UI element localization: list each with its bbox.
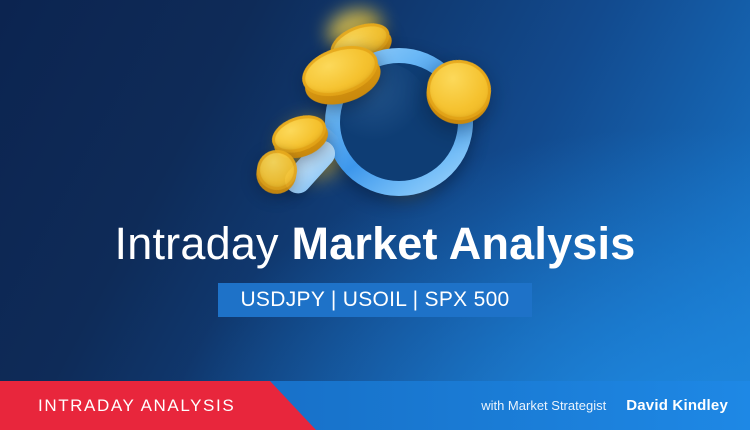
page-title-light: Intraday — [115, 218, 292, 269]
bottom-bar: INTRADAY ANALYSIS with Market Strategist… — [0, 381, 750, 430]
strategist-role-label: with Market Strategist — [481, 396, 606, 415]
strategist-credit: with Market Strategist David Kindley — [481, 396, 728, 415]
page-title: Intraday Market Analysis — [0, 218, 750, 270]
magnifying-glass-icon — [255, 0, 515, 215]
symbols-badge: USDJPY | USOIL | SPX 500 — [218, 283, 531, 317]
category-label: INTRADAY ANALYSIS — [38, 395, 235, 416]
intraday-market-analysis-banner: Intraday Market Analysis USDJPY | USOIL … — [0, 0, 750, 430]
title-block: Intraday Market Analysis USDJPY | USOIL … — [0, 218, 750, 317]
page-title-bold: Market Analysis — [291, 218, 635, 269]
strategist-name: David Kindley — [626, 396, 728, 415]
